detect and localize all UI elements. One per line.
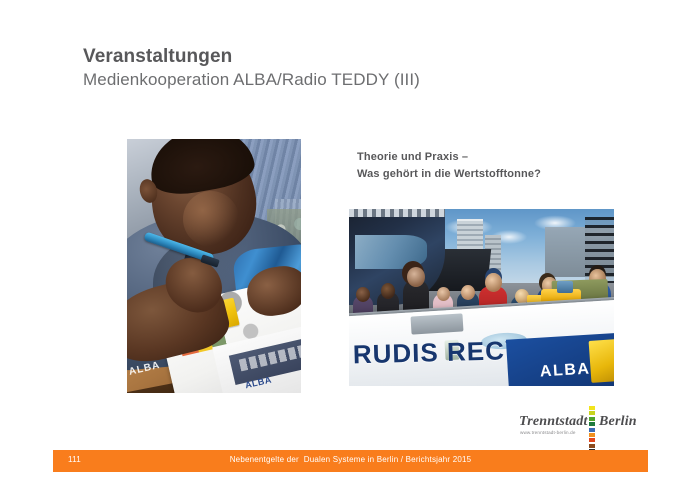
caption-theorie-und-praxis: Theorie und Praxis – Was gehört in die W… [357, 149, 541, 183]
footer-bar: 111 Nebenentgelte der Dualen Systeme in … [53, 450, 648, 472]
photo-right-person-woman-red-head [485, 273, 502, 292]
page-subtitle: Medienkooperation ALBA/Radio TEDDY (III) [83, 70, 420, 90]
photo-right-person-child-pink-head [437, 287, 450, 301]
photo-right-person-boy-blue-head [461, 285, 475, 300]
photo-boy-writing-worksheet: ALBA ALBA [127, 139, 301, 393]
logo-dot-8 [589, 444, 595, 448]
logo-dot-2 [589, 411, 595, 415]
photo-right-person-woman-black-head [407, 267, 425, 287]
logo-dot-6 [589, 433, 595, 437]
photo-right-content: RUDIS RECYCLING ALBA [349, 209, 614, 386]
photo-right-person-child-left-1-head [356, 287, 370, 302]
logo-dot-3 [589, 417, 595, 421]
photo-right-vehicle-roof-stripe [349, 209, 445, 217]
trenntstadt-berlin-logo: Trenntstadt Berlin www.trenntstadt-berli… [519, 405, 645, 443]
caption-line-2: Was gehört in die Wertstofftonne? [357, 166, 541, 183]
logo-url: www.trenntstadt-berlin.de [520, 430, 576, 435]
logo-word-trenntstadt: Trenntstadt [519, 414, 588, 430]
logo-word-berlin: Berlin [599, 414, 637, 430]
logo-dot-5 [589, 428, 595, 432]
photo-right-alba-logo: ALBA [539, 360, 590, 381]
photo-right-person-child-left-2-head [381, 283, 395, 299]
logo-color-dots [589, 406, 596, 453]
photo-left-content: ALBA ALBA [127, 139, 301, 393]
logo-dot-4 [589, 422, 595, 426]
page-title: Veranstaltungen [83, 46, 232, 68]
photo-right-loader-cab [557, 281, 573, 293]
caption-line-1: Theorie und Praxis – [357, 149, 541, 166]
photo-alba-event-table: RUDIS RECYCLING ALBA [349, 209, 614, 386]
logo-dot-7 [589, 438, 595, 442]
logo-dot-1 [589, 406, 595, 410]
photo-left-boy-cheek [183, 191, 239, 247]
footer-title-text: Nebenentgelte der Dualen Systeme in Berl… [53, 455, 648, 464]
photo-right-yellow-bin [589, 339, 614, 383]
